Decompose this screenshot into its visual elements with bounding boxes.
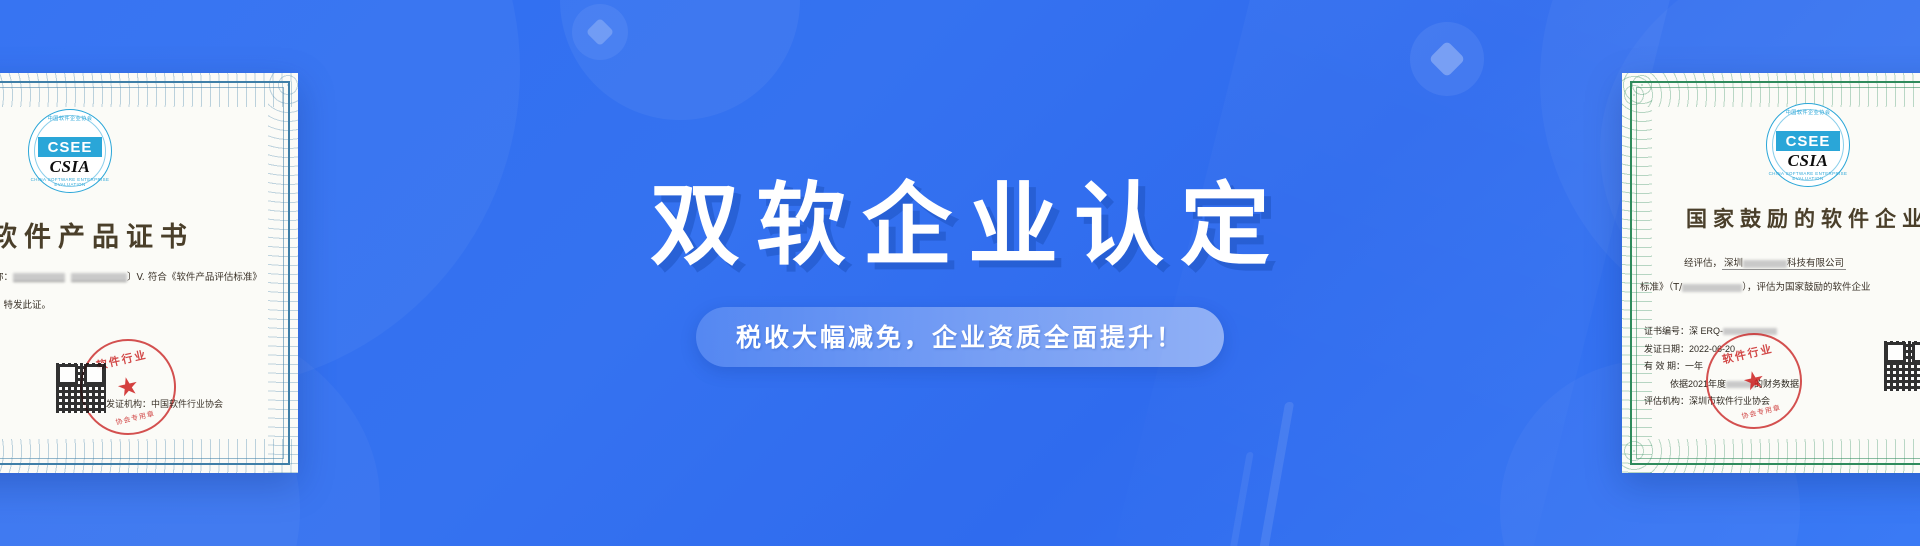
page-title: 双软企业认定 xyxy=(634,179,1286,274)
banner-content: 双软企业认定 税收大幅减免，企业资质全面提升！ xyxy=(0,0,1920,546)
subtitle-pill: 税收大幅减免，企业资质全面提升！ xyxy=(696,307,1224,367)
promo-banner: 中国软件企业协会 CSEE CSIA CHINA SOFTWARE ENTERP… xyxy=(0,0,1920,546)
